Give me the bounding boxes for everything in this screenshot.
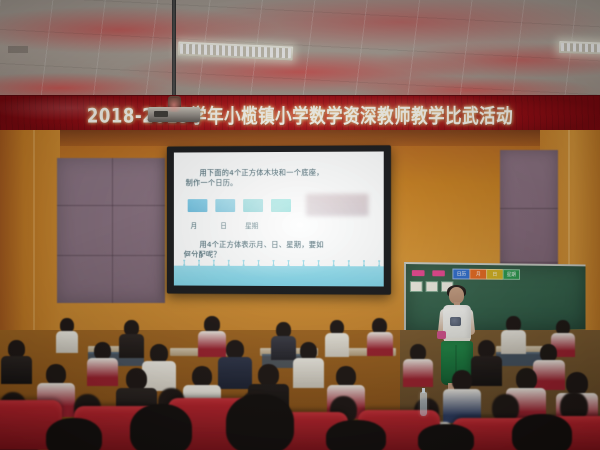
blackboard-word-card: 日 [486, 269, 503, 280]
foreground-head [418, 424, 474, 450]
slide-cube [215, 199, 235, 212]
ceiling-light-fixture [559, 41, 600, 55]
slide-cube-label: 月 [191, 220, 198, 230]
slide-cube [243, 199, 263, 212]
ceiling-tile-grid [0, 0, 600, 98]
slide-cube-label: 星期 [245, 220, 258, 230]
foreground-head [226, 394, 294, 450]
slide-wave-decoration [174, 260, 384, 287]
foreground-head [130, 404, 192, 450]
wall-left-column [0, 130, 60, 330]
screen-surface: 用下面的4个正方体木块和一个底座， 制作一个日历。 月 日 星期 用4个正方体表… [174, 151, 384, 286]
blackboard-pink-card [432, 270, 444, 276]
blackboard-word-card: 月 [469, 269, 487, 280]
ceiling-vent [8, 46, 28, 53]
blackboard-white-card [410, 281, 423, 292]
wall-shadow-band [0, 130, 600, 146]
ceiling [0, 0, 600, 98]
foreground-head [46, 418, 102, 450]
slide-cube [188, 199, 208, 212]
acoustic-panel-left [57, 158, 165, 303]
projection-screen: 用下面的4个正方体木块和一个底座， 制作一个日历。 月 日 星期 用4个正方体表… [167, 145, 391, 294]
foreground-head [326, 420, 386, 450]
classroom-photo: 2018-2019学年小榄镇小学数学资深教师教学比武活动 用下面的4个正方体木块… [0, 0, 600, 450]
slide-text-line2: 制作一个日历。 [186, 178, 238, 189]
slide-cube [271, 199, 291, 212]
projector-mount-pole [172, 0, 176, 97]
water-bottle [420, 392, 427, 416]
projector-glow [164, 98, 184, 112]
blackboard-pink-card [412, 270, 425, 276]
event-banner: 2018-2019学年小榄镇小学数学资深教师教学比武活动 [0, 95, 600, 133]
foreground-head [512, 414, 572, 450]
blackboard-word-card: 日历 [452, 269, 470, 280]
slide-base-image [306, 194, 368, 216]
slide-cube-label: 日 [220, 220, 227, 230]
slide-text-line1: 用下面的4个正方体木块和一个底座， [200, 168, 324, 179]
blackboard-word-card: 星期 [503, 269, 520, 280]
projector [148, 96, 200, 122]
